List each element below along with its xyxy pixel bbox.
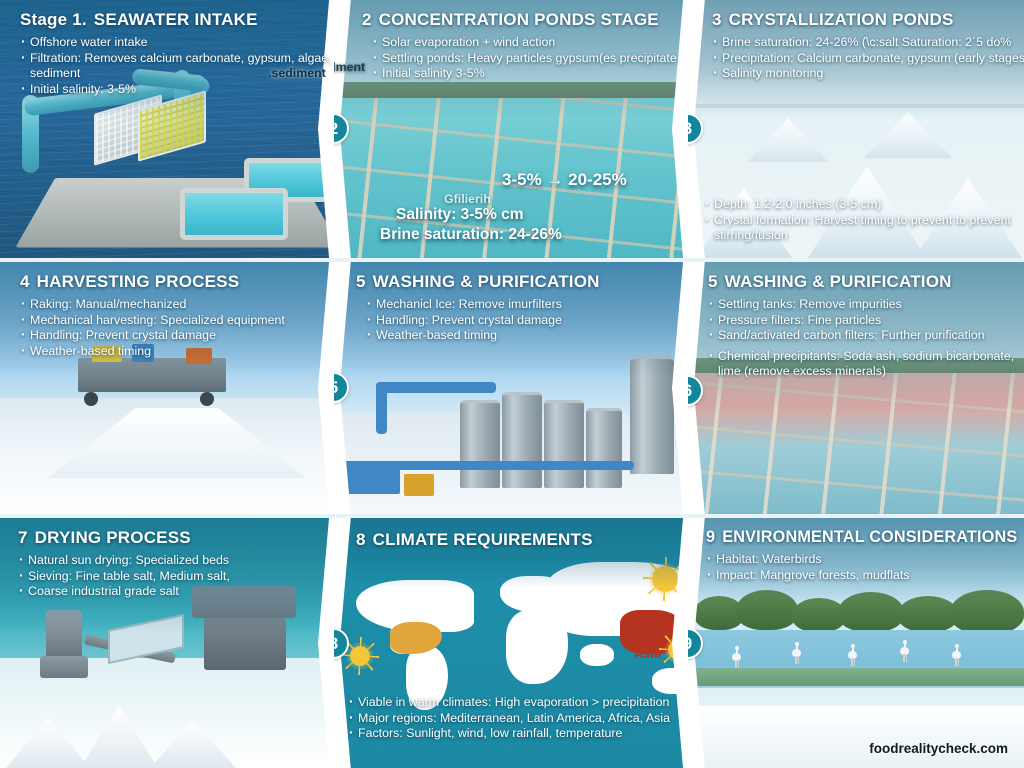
panel-text-block: 4HARVESTING PROCESS Raking: Manual/mecha… [20, 272, 340, 359]
pump-unit [344, 468, 400, 494]
panel-crystallization-ponds[interactable]: 3CRYSTALLIZATION PONDS Brine saturation:… [688, 0, 1024, 258]
bullet-item: Natural sun drying: Specialized beds [18, 553, 342, 569]
panel-heading: 5WASHING & PURIFICATION [356, 272, 700, 292]
panel-number: 2 [362, 10, 372, 29]
panel-heading: Stage 1.SEAWATER INTAKE [20, 10, 350, 30]
overlay-artifact-text: dment [334, 60, 365, 74]
bullet-item: Weather-based timing [20, 344, 340, 360]
header-scrim [334, 518, 706, 588]
stat-crystal-formation-cont: stirring/fusion [704, 228, 1024, 244]
panel-number: 7 [18, 528, 28, 547]
panel-bullets: Settling tanks: Remove impurities Pressu… [708, 297, 1024, 380]
panel-text-block: 8CLIMATE REQUIREMENTS [356, 530, 700, 550]
panel-bullets: Natural sun drying: Specialized beds Sie… [18, 553, 342, 600]
panel-harvesting-process[interactable]: 4HARVESTING PROCESS Raking: Manual/mecha… [0, 262, 352, 514]
panel-bullets: Viable in warm climates: High evaporatio… [348, 695, 698, 742]
panel-number: 4 [20, 272, 30, 291]
panel-number: 8 [356, 530, 366, 549]
panel-text-block: 7DRYING PROCESS Natural sun drying: Spec… [18, 528, 342, 600]
bullet-item-cont: lime (remove excess minerals) [708, 364, 1024, 380]
bullet-item: Major regions: Mediterranean, Latin Amer… [348, 711, 698, 727]
panel-bullets: Raking: Manual/mechanized Mechanical har… [20, 297, 340, 359]
panel-title: WASHING & PURIFICATION [725, 272, 952, 291]
bullet-item: Impact: Mangrove forests, mudflats [706, 568, 1024, 584]
bullet-item: Initial salinity: 3-5% [20, 82, 350, 98]
bullet-item: Raking: Manual/mechanized [20, 297, 340, 313]
storage-tank [502, 392, 542, 488]
bullet-item: Salinity monitoring [712, 66, 1024, 82]
bullet-item: Sieving: Fine table salt, Medium salt, [18, 569, 342, 585]
waterbird [952, 644, 961, 666]
panel-number: 5 [708, 272, 718, 291]
stat-depth: Depth: 1.2-2.0 inches (3-5 cm) [704, 197, 1024, 213]
bullet-item: Settling ponds: Heavy particles gypsum(e… [372, 51, 706, 67]
panel-bullets: Solar evaporation + wind action Settling… [372, 35, 706, 82]
panel-title: CLIMATE REQUIREMENTS [373, 530, 593, 549]
panel-bullets: Habitat: Waterbirds Impact: Mangrove for… [706, 552, 1024, 583]
control-box [404, 474, 434, 496]
panel-bullets: Mechanicl Ice: Remove imurfilters Handli… [366, 297, 700, 344]
panel-heading: 5WASHING & PURIFICATION [708, 272, 1024, 292]
panel-climate-requirements[interactable]: Asia 8CLIMATE REQUIREMENTS Viable in war… [334, 518, 706, 768]
panel-number: 3 [712, 10, 722, 29]
overlay-artifact-text: Gfilierih [444, 192, 491, 206]
bullet-item: Factors: Sunlight, wind, low rainfall, t… [348, 726, 698, 742]
panel-title: WASHING & PURIFICATION [373, 272, 600, 291]
salt-shore [688, 706, 1024, 768]
panel-title: HARVESTING PROCESS [37, 272, 240, 291]
waterbird [732, 646, 741, 668]
bullet-item: Coarse industrial grade salt [18, 584, 342, 600]
bullet-item: Brine saturation: 24-26% (\c:salt Satura… [712, 35, 1024, 51]
continent-india [580, 644, 614, 666]
intake-basin-front [180, 188, 288, 240]
bullet-item: Mechanicl Ice: Remove imurfilters [366, 297, 700, 313]
bullet-item: Offshore water intake [20, 35, 350, 51]
bullet-item: Initial salinity 3-5% [372, 66, 706, 82]
panel-text-block: Stage 1.SEAWATER INTAKE Offshore water i… [20, 10, 350, 97]
panel-title: DRYING PROCESS [35, 528, 191, 547]
stat-brine-saturation: Brine saturation: 24-26% [380, 226, 562, 244]
bullet-item: Weather-based timing [366, 328, 700, 344]
bullet-item: Handling: Prevent crystal damage [20, 328, 340, 344]
panel-heading: 3CRYSTALLIZATION PONDS [712, 10, 1024, 30]
map-label-asia: Asia [634, 646, 661, 661]
panel-concentration-ponds[interactable]: 2CONCENTRATION PONDS STAGE Solar evapora… [334, 0, 706, 258]
panel-washing-purification-right[interactable]: 5WASHING & PURIFICATION Settling tanks: … [688, 262, 1024, 514]
marsh-grass [688, 668, 1024, 686]
waterbird [792, 642, 801, 664]
panel-stat-block: Depth: 1.2-2.0 inches (3-5 cm) Crystal f… [704, 192, 1024, 244]
panel-heading: 4HARVESTING PROCESS [20, 272, 340, 292]
overlay-artifact-text: .sediment [268, 66, 326, 80]
panel-heading: 2CONCENTRATION PONDS STAGE [362, 10, 706, 30]
salt-production-infographic: Stage 1.SEAWATER INTAKE Offshore water i… [0, 0, 1024, 768]
stat-salinity-progression: 3-5% → 20-25% [502, 170, 627, 190]
bullet-item: Habitat: Waterbirds [706, 552, 1024, 568]
harvester-wheel [200, 392, 214, 406]
panel-heading: 7DRYING PROCESS [18, 528, 342, 548]
hopper-base [40, 656, 88, 678]
bullet-item: Mechanical harvesting: Specialized equip… [20, 313, 340, 329]
process-pipe [376, 382, 496, 393]
panel-text-block: 3CRYSTALLIZATION PONDS Brine saturation:… [712, 10, 1024, 82]
panel-number: 9 [706, 528, 715, 546]
storage-tank [544, 400, 584, 488]
panel-heading: 8CLIMATE REQUIREMENTS [356, 530, 700, 550]
storage-tank [460, 400, 500, 488]
waterbird [900, 640, 909, 662]
panel-text-block: 5WASHING & PURIFICATION Mechanicl Ice: R… [356, 272, 700, 344]
bullet-item: Sand/activated carbon filters: Further p… [708, 328, 1024, 344]
process-pipe-riser [376, 382, 387, 434]
row-stage-7-9: 7DRYING PROCESS Natural sun drying: Spec… [0, 518, 1024, 768]
salt-pile [748, 118, 828, 162]
panel-title: CRYSTALLIZATION PONDS [729, 10, 954, 29]
harvester-wheel [84, 392, 98, 406]
panel-seawater-intake[interactable]: Stage 1.SEAWATER INTAKE Offshore water i… [0, 0, 352, 258]
panel-drying-process[interactable]: 7DRYING PROCESS Natural sun drying: Spec… [0, 518, 352, 768]
panel-text-block: 5WASHING & PURIFICATION Settling tanks: … [708, 272, 1024, 380]
bullet-item: Pressure filters: Fine particles [708, 313, 1024, 329]
bullet-item: Handling: Prevent crystal damage [366, 313, 700, 329]
panel-number: Stage 1. [20, 10, 87, 29]
watermark-url: foodrealitycheck.com [869, 741, 1008, 756]
panel-heading: 9ENVIRONMENTAL CONSIDERATIONS [706, 528, 1024, 547]
bullet-item: Settling tanks: Remove impurities [708, 297, 1024, 313]
panel-text-block: 2CONCENTRATION PONDS STAGE Solar evapora… [362, 10, 706, 82]
panel-bullets: Brine saturation: 24-26% (\c:salt Satura… [712, 35, 1024, 82]
panel-text-block: 9ENVIRONMENTAL CONSIDERATIONS Habitat: W… [706, 528, 1024, 583]
panel-washing-purification-left[interactable]: 5WASHING & PURIFICATION Mechanicl Ice: R… [334, 262, 706, 514]
bullet-item: Chemical precipitants: Soda ash, sodium … [708, 349, 1024, 365]
panel-title: CONCENTRATION PONDS STAGE [379, 10, 659, 29]
panel-title: SEAWATER INTAKE [94, 10, 258, 29]
salt-pile [864, 112, 952, 158]
stat-bullets: Depth: 1.2-2.0 inches (3-5 cm) Crystal f… [704, 197, 1024, 244]
bullet-item: Precipitation: Calcium carbonate, gypsum… [712, 51, 1024, 67]
sun-icon [350, 646, 370, 666]
storage-tank [586, 408, 622, 488]
panel-environmental-considerations[interactable]: 9ENVIRONMENTAL CONSIDERATIONS Habitat: W… [688, 518, 1024, 768]
waterbird [848, 644, 857, 666]
panel-title: ENVIRONMENTAL CONSIDERATIONS [722, 528, 1017, 546]
panel-number: 5 [356, 272, 366, 291]
row-stage-1-3: Stage 1.SEAWATER INTAKE Offshore water i… [0, 0, 1024, 258]
stat-salinity: Salinity: 3-5% cm [396, 206, 524, 224]
bullet-item: Solar evaporation + wind action [372, 35, 706, 51]
stat-crystal-formation: Crystal formation: Harvest timing to pre… [704, 213, 1024, 229]
panel-bottom-text-block: Viable in warm climates: High evaporatio… [348, 690, 698, 742]
row-stage-4-6: 4HARVESTING PROCESS Raking: Manual/mecha… [0, 262, 1024, 514]
bullet-item: Viable in warm climates: High evaporatio… [348, 695, 698, 711]
